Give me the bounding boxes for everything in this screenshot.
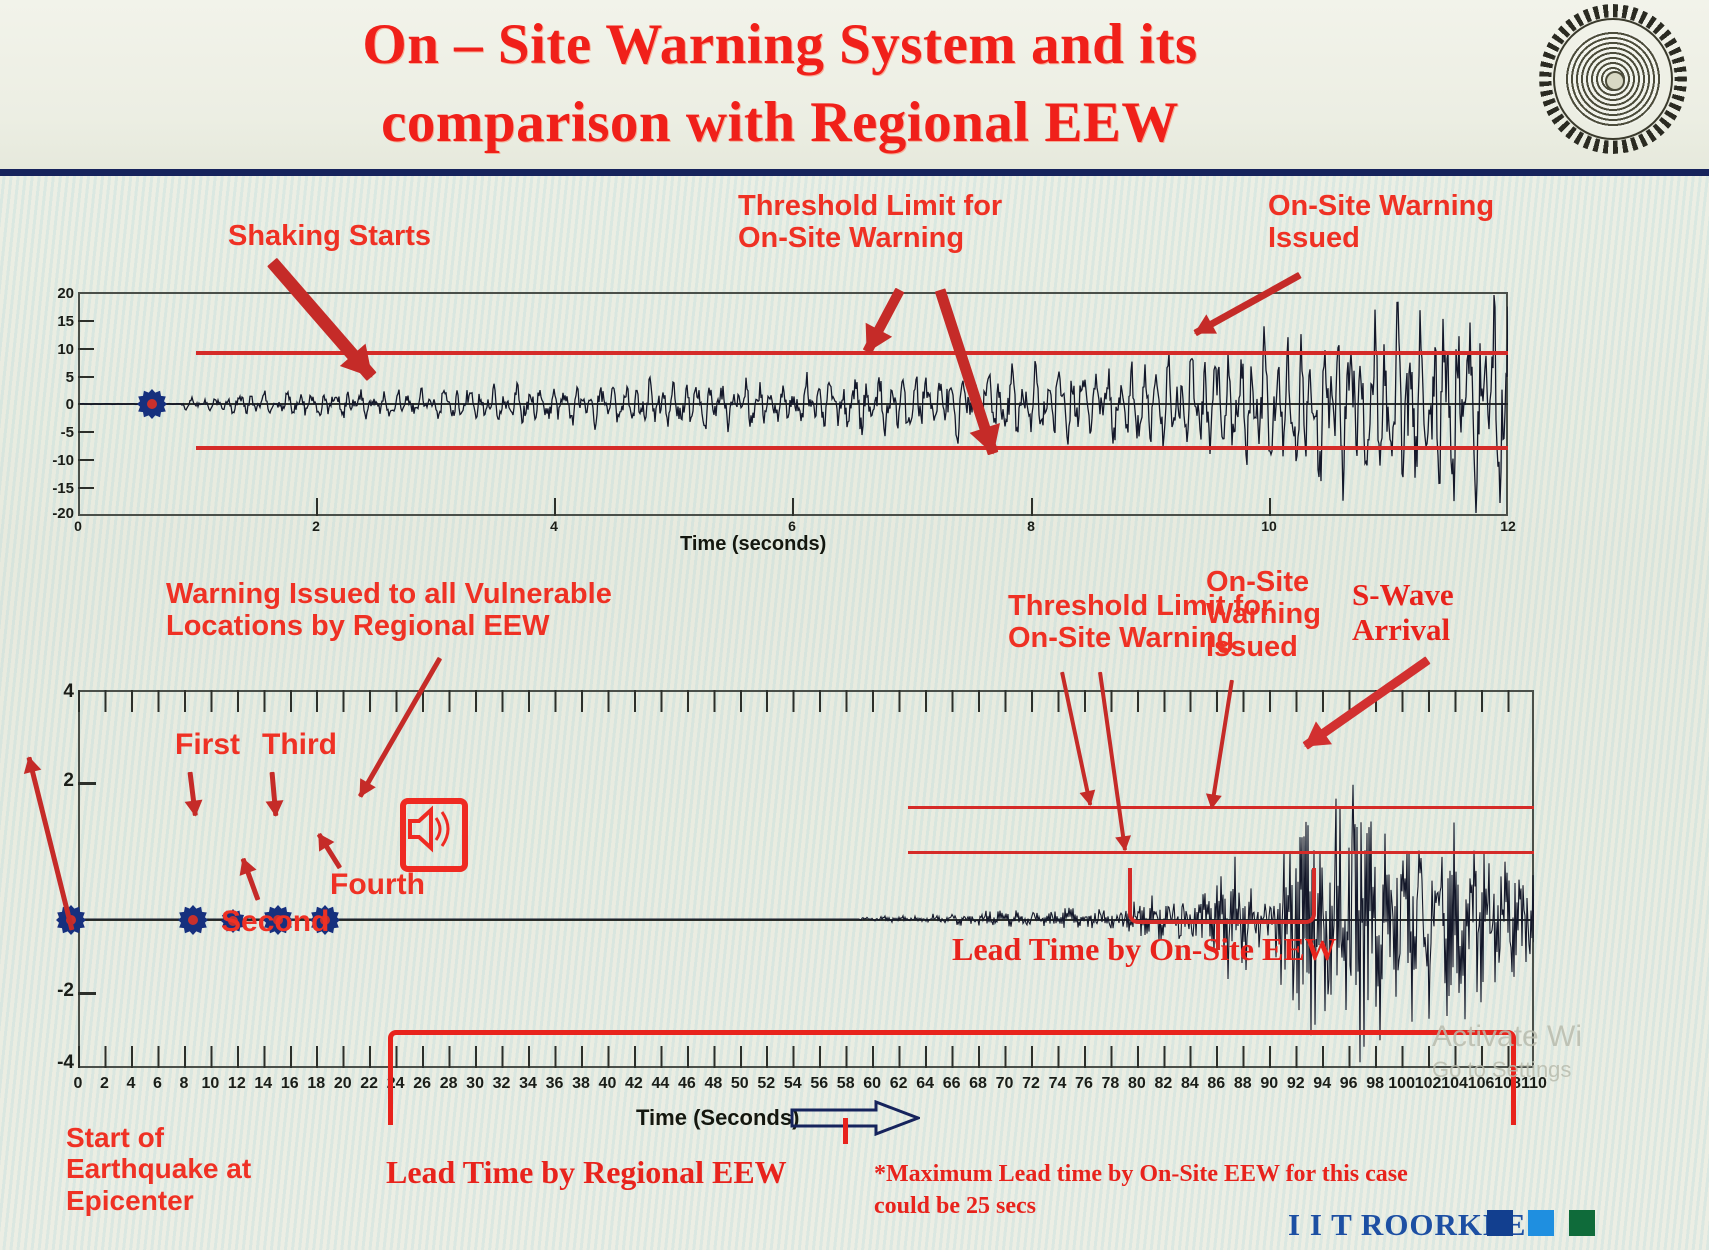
bottom-xtick-4: 4 — [117, 1075, 145, 1093]
top-upper-threshold-line — [196, 351, 1508, 355]
bottom-xtick-2: 2 — [90, 1075, 118, 1093]
bottom-xtick-20: 20 — [329, 1075, 357, 1093]
regional-warning-speaker-icon — [400, 798, 468, 872]
slide-header: On – Site Warning System and its compari… — [0, 0, 1709, 176]
burst-core — [147, 399, 157, 409]
label-first-station: First — [175, 728, 240, 762]
top-ytick-m15: -15 — [30, 480, 74, 497]
page-title-line2: comparison with Regional EEW — [120, 84, 1440, 162]
annotation-bottom-warning-issued: On-Site Warning Issued — [1206, 566, 1321, 663]
bottom-xtick-16: 16 — [276, 1075, 304, 1093]
label-fourth-station: Fourth — [330, 868, 425, 902]
top-xtick-2: 2 — [296, 518, 336, 534]
top-ytick-m10: -10 — [30, 452, 74, 469]
annotation-lead-time-regional: Lead Time by Regional EEW — [386, 1155, 787, 1191]
bottom-xtick-18: 18 — [302, 1075, 330, 1093]
bottom-ytick-m2: -2 — [30, 980, 74, 1002]
top-xtick-12: 12 — [1488, 518, 1528, 534]
slide-canvas: On – Site Warning System and its compari… — [0, 0, 1709, 1250]
shaking-start-marker — [137, 389, 167, 419]
bottom-xtick-row-top — [78, 690, 1534, 712]
lead-time-onsite-brace — [1128, 868, 1316, 924]
iit-roorkee-emblem-icon — [1539, 4, 1687, 154]
annotation-shaking-starts: Shaking Starts — [228, 220, 431, 252]
top-xtick-8: 8 — [1011, 518, 1051, 534]
top-xtick-10: 10 — [1249, 518, 1289, 534]
top-ytick-15: 15 — [30, 313, 74, 330]
page-title-line1: On – Site Warning System and its — [120, 6, 1440, 84]
lead-time-regional-stem — [843, 1118, 848, 1144]
top-xtick-6: 6 — [772, 518, 812, 534]
brand-swatch-2 — [1528, 1210, 1554, 1236]
marker-first-station — [178, 905, 208, 935]
annotation-lead-time-onsite: Lead Time by On-Site EEW — [952, 932, 1337, 968]
annotation-top-warning-issued: On-Site Warning Issued — [1268, 190, 1494, 255]
emblem-core — [1605, 71, 1625, 91]
label-second-station: Second — [221, 905, 329, 939]
bottom-xtick-12: 12 — [223, 1075, 251, 1093]
bottom-upper-threshold-line — [908, 806, 1534, 809]
top-xaxis-title: Time (seconds) — [680, 533, 826, 556]
brand-swatch-1 — [1487, 1210, 1513, 1236]
label-third-station: Third — [262, 728, 337, 762]
top-lower-threshold-line — [196, 446, 1508, 450]
bottom-ytick-4: 4 — [30, 681, 74, 703]
top-ytick-5: 5 — [30, 369, 74, 386]
top-ytick-0: 0 — [30, 396, 74, 413]
annotation-top-threshold-limit: Threshold Limit for On-Site Warning — [738, 190, 1002, 255]
bottom-xtick-14: 14 — [249, 1075, 277, 1093]
annotation-regional-warning: Warning Issued to all Vulnerable Locatio… — [166, 578, 612, 643]
bottom-xtick-22: 22 — [355, 1075, 383, 1093]
lead-time-regional-bracket — [388, 1030, 1516, 1125]
annotation-start-of-earthquake: Start of Earthquake at Epicenter — [66, 1122, 251, 1216]
top-ytick-20: 20 — [30, 285, 74, 302]
top-xtick-0: 0 — [58, 518, 98, 534]
brand-swatch-3 — [1569, 1210, 1595, 1236]
bottom-xtick-10: 10 — [196, 1075, 224, 1093]
annotation-s-wave-arrival: S-Wave Arrival — [1352, 578, 1454, 647]
bottom-ytick-m4: -4 — [30, 1052, 74, 1074]
bottom-xtick-8: 8 — [170, 1075, 198, 1093]
bottom-xtick-6: 6 — [143, 1075, 171, 1093]
top-ytick-10: 10 — [30, 341, 74, 358]
top-waveform — [80, 293, 1508, 515]
bottom-xtick-0: 0 — [64, 1075, 92, 1093]
activate-windows-watermark: Activate Wi Go to Settings — [1432, 1018, 1582, 1083]
top-ytick-m5: -5 — [30, 424, 74, 441]
page-title: On – Site Warning System and its compari… — [120, 6, 1440, 162]
bottom-lower-threshold-line — [908, 851, 1534, 854]
top-xtick-4: 4 — [534, 518, 574, 534]
